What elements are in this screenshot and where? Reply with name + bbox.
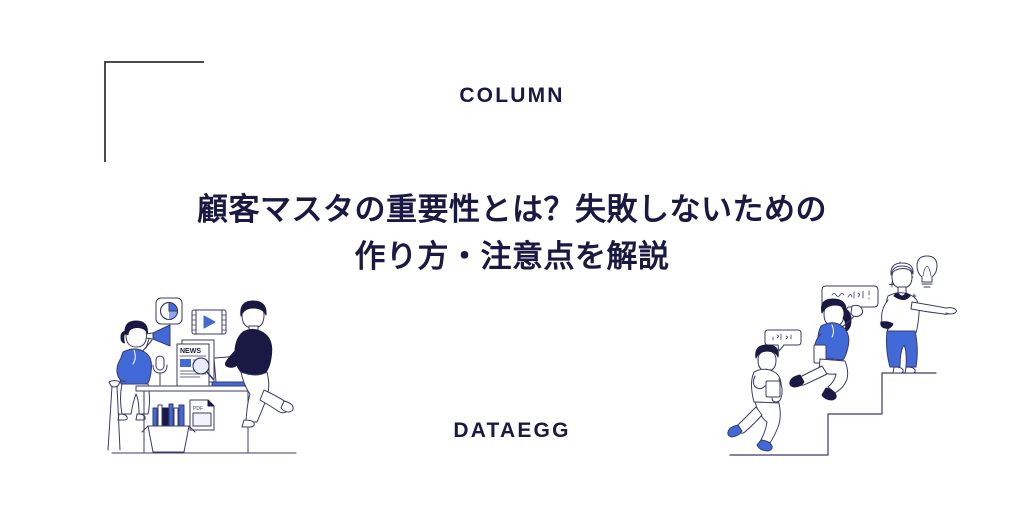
books xyxy=(153,404,184,428)
pie-chart-icon xyxy=(156,298,182,324)
man-with-laptop xyxy=(225,301,293,427)
video-play-icon xyxy=(192,310,226,334)
svg-text:NEWS: NEWS xyxy=(180,348,201,355)
column-eyebrow-label: COLUMN xyxy=(0,84,1024,108)
box-of-books xyxy=(142,404,195,452)
woman-running-up-stairs xyxy=(790,286,878,400)
news-document-with-magnifier: NEWS xyxy=(177,340,214,386)
person-climbing-lower-step xyxy=(728,330,801,451)
pdf-file-icon: PDF xyxy=(190,400,214,430)
lightbulb-icon xyxy=(917,256,937,287)
content-marketing-team-illustration: NEWS xyxy=(96,292,316,470)
corner-bracket-decoration xyxy=(104,61,204,162)
page-title-line-1: 顧客マスタの重要性とは？失敗しないための xyxy=(112,186,912,233)
people-climbing-stairs-illustration xyxy=(722,242,970,470)
column-header-banner: COLUMN 顧客マスタの重要性とは？失敗しないための 作り方・注意点を解説 D… xyxy=(0,0,1024,512)
microphone xyxy=(153,356,167,386)
svg-text:PDF: PDF xyxy=(193,406,203,412)
man-pointing-at-top xyxy=(881,263,957,373)
